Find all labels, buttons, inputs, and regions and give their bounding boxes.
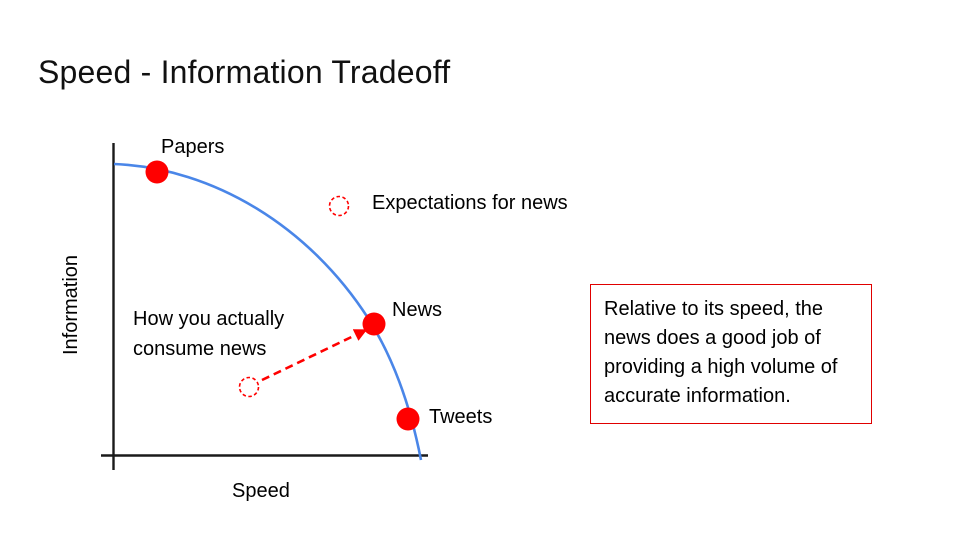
tradeoff-chart: Papers News Tweets Expectations for news…: [0, 0, 560, 540]
x-axis-label: Speed: [232, 480, 290, 503]
y-axis-label: Information: [60, 230, 83, 380]
annotation-consume-news-line2: consume news: [133, 334, 284, 364]
data-label-papers: Papers: [161, 133, 224, 162]
legend-label-expectations: Expectations for news: [372, 189, 568, 218]
data-point-tweets: [397, 408, 420, 431]
data-label-news: News: [392, 296, 442, 325]
actual-consumption-marker: [240, 378, 259, 397]
slide-canvas: Speed - Information Tradeoff: [0, 0, 960, 540]
data-point-papers: [146, 161, 169, 184]
callout-box: Relative to its speed, the news does a g…: [590, 284, 872, 424]
expectations-marker-icon: [330, 197, 349, 216]
annotation-consume-news-line1: How you actually: [133, 304, 284, 334]
annotation-consume-news: How you actually consume news: [133, 304, 284, 364]
data-label-tweets: Tweets: [429, 403, 492, 432]
callout-text: Relative to its speed, the news does a g…: [604, 295, 862, 411]
data-point-news: [363, 313, 386, 336]
chart-svg: [0, 0, 560, 540]
